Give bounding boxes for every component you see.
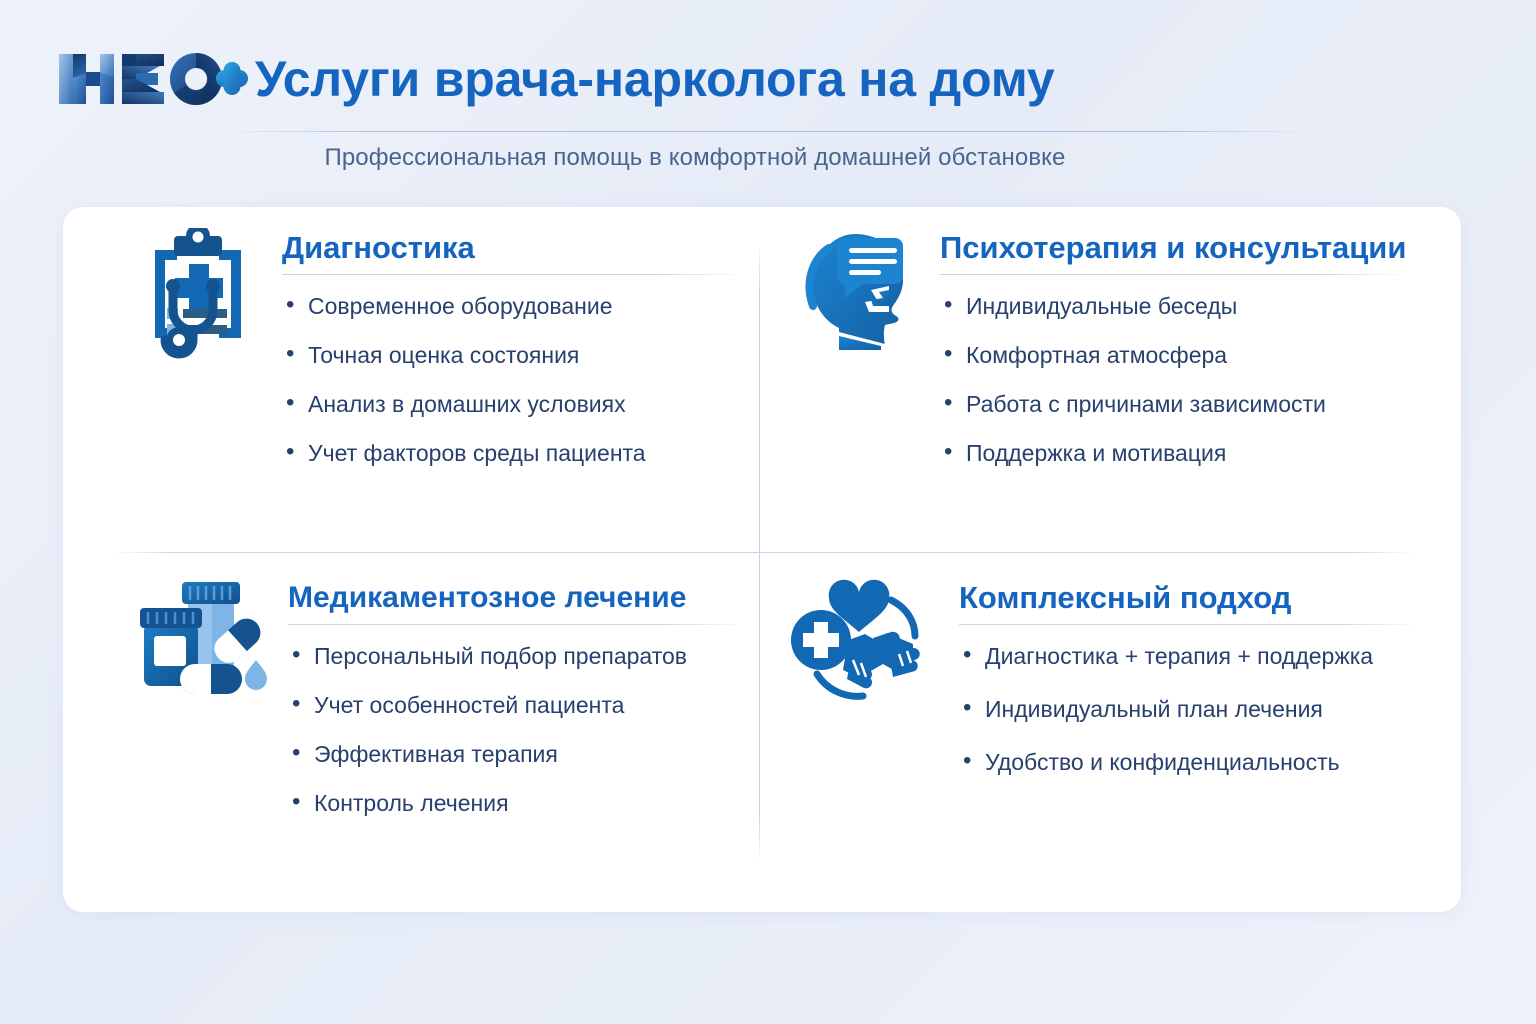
header: Услуги врача-нарколога на дому Профессио… <box>0 0 1536 200</box>
head-speech-bubble-icon <box>790 228 922 360</box>
list-item: Индивидуальные беседы <box>940 291 1410 321</box>
list-item: Поддержка и мотивация <box>940 438 1410 468</box>
section-title: Комплексный подход <box>959 578 1414 624</box>
pill-bottles-capsules-icon <box>128 578 276 706</box>
section-title: Диагностика <box>282 228 738 274</box>
section-title-underline <box>940 274 1400 275</box>
list-item: Контроль лечения <box>288 788 738 818</box>
section-title-underline <box>282 274 737 275</box>
bullet-list: Современное оборудование Точная оценка с… <box>282 291 738 468</box>
page-subtitle: Профессиональная помощь в комфортной дом… <box>0 144 1390 172</box>
infographic-page: Услуги врача-нарколога на дому Профессио… <box>0 0 1536 1024</box>
handshake-heart-cross-icon <box>785 578 935 706</box>
list-item: Современное оборудование <box>282 291 738 321</box>
horizontal-divider <box>110 552 1415 553</box>
section-diagnostics: Диагностика Современное оборудование Точ… <box>138 228 738 468</box>
bullet-list: Индивидуальные беседы Комфортная атмосфе… <box>940 291 1410 468</box>
page-title: Услуги врача-нарколога на дому <box>255 48 1055 110</box>
list-item: Комфортная атмосфера <box>940 340 1410 370</box>
section-medication: Медикаментозное лечение Персональный под… <box>128 578 738 818</box>
section-body: Диагностика Современное оборудование Точ… <box>270 228 738 468</box>
section-title: Психотерапия и консультации <box>940 228 1410 274</box>
header-divider <box>222 131 1312 132</box>
clipboard-stethoscope-icon <box>138 228 270 360</box>
vertical-divider <box>759 243 760 863</box>
neo-plus-logo <box>56 48 248 110</box>
logo-svg <box>56 48 248 110</box>
section-complex-approach: Комплексный подход Диагностика + терапия… <box>785 578 1410 800</box>
section-title-underline <box>959 624 1414 625</box>
section-title: Медикаментозное лечение <box>288 578 738 624</box>
list-item: Точная оценка состояния <box>282 340 738 370</box>
section-body: Медикаментозное лечение Персональный под… <box>276 578 738 818</box>
list-item: Индивидуальный план лечения <box>959 694 1414 724</box>
list-item: Учет факторов среды пациента <box>282 438 738 468</box>
section-body: Психотерапия и консультации Индивидуальн… <box>922 228 1410 468</box>
list-item: Учет особенностей пациента <box>288 690 738 720</box>
section-title-underline <box>288 624 738 625</box>
list-item: Анализ в домашних условиях <box>282 389 738 419</box>
list-item: Персональный подбор препаратов <box>288 641 738 671</box>
bullet-list: Диагностика + терапия + поддержка Индиви… <box>959 641 1414 777</box>
section-psychotherapy: Психотерапия и консультации Индивидуальн… <box>790 228 1410 468</box>
section-body: Комплексный подход Диагностика + терапия… <box>935 578 1414 800</box>
bullet-list: Персональный подбор препаратов Учет особ… <box>288 641 738 818</box>
list-item: Работа с причинами зависимости <box>940 389 1410 419</box>
list-item: Диагностика + терапия + поддержка <box>959 641 1414 671</box>
list-item: Эффективная терапия <box>288 739 738 769</box>
list-item: Удобство и конфиденциальность <box>959 747 1414 777</box>
